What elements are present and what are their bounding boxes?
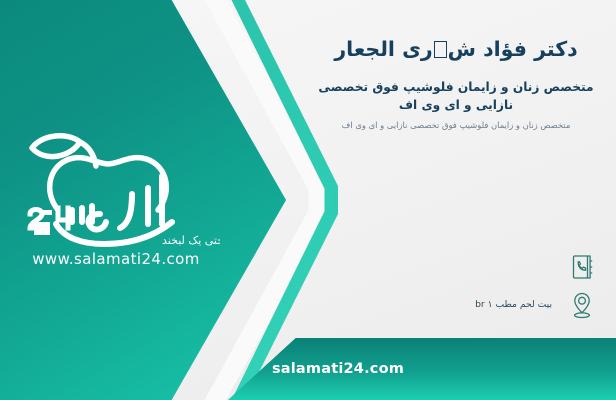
specialty-line-2: نازایی و ای وی اف [308, 96, 604, 114]
doctor-first-name: فؤاد [483, 37, 527, 61]
business-card: براحتی یک لبخند www.salamati24.com دکتر … [0, 0, 616, 400]
logo-website: www.salamati24.com [32, 250, 200, 268]
contact-list: بیت لحم مطب ۱ br [308, 248, 598, 324]
salamati24-logo[interactable]: براحتی یک لبخند www.salamati24.com [12, 118, 220, 270]
doctor-name-prefix: دکتر [534, 37, 578, 61]
doctor-specialty-subtext: متخصص زنان و زایمان فلوشیپ فوق تخصصی ناز… [318, 119, 594, 133]
logo-tagline: براحتی یک لبخند [162, 234, 220, 247]
doctor-family-name: الجعار [334, 37, 395, 61]
doctor-middle-before: ش [448, 37, 476, 61]
missing-glyph-box [434, 41, 447, 58]
doctor-specialty: متخصص زنان و زایمان فلوشیپ فوق تخصصی ناز… [308, 78, 604, 115]
contact-address-text: بیت لحم مطب ۱ br [308, 299, 556, 312]
location-pin-icon[interactable] [566, 288, 598, 322]
footer-website[interactable]: salamati24.com [0, 338, 616, 400]
doctor-name: دکتر فؤاد شری الجعار [296, 0, 616, 64]
specialty-line-1: متخصص زنان و زایمان فلوشیپ فوق تخصصی [308, 78, 604, 96]
phone-book-icon[interactable] [566, 250, 598, 284]
contact-row-phone[interactable] [308, 248, 598, 286]
doctor-middle-after: ری [402, 37, 433, 61]
contact-row-address[interactable]: بیت لحم مطب ۱ br [308, 286, 598, 324]
